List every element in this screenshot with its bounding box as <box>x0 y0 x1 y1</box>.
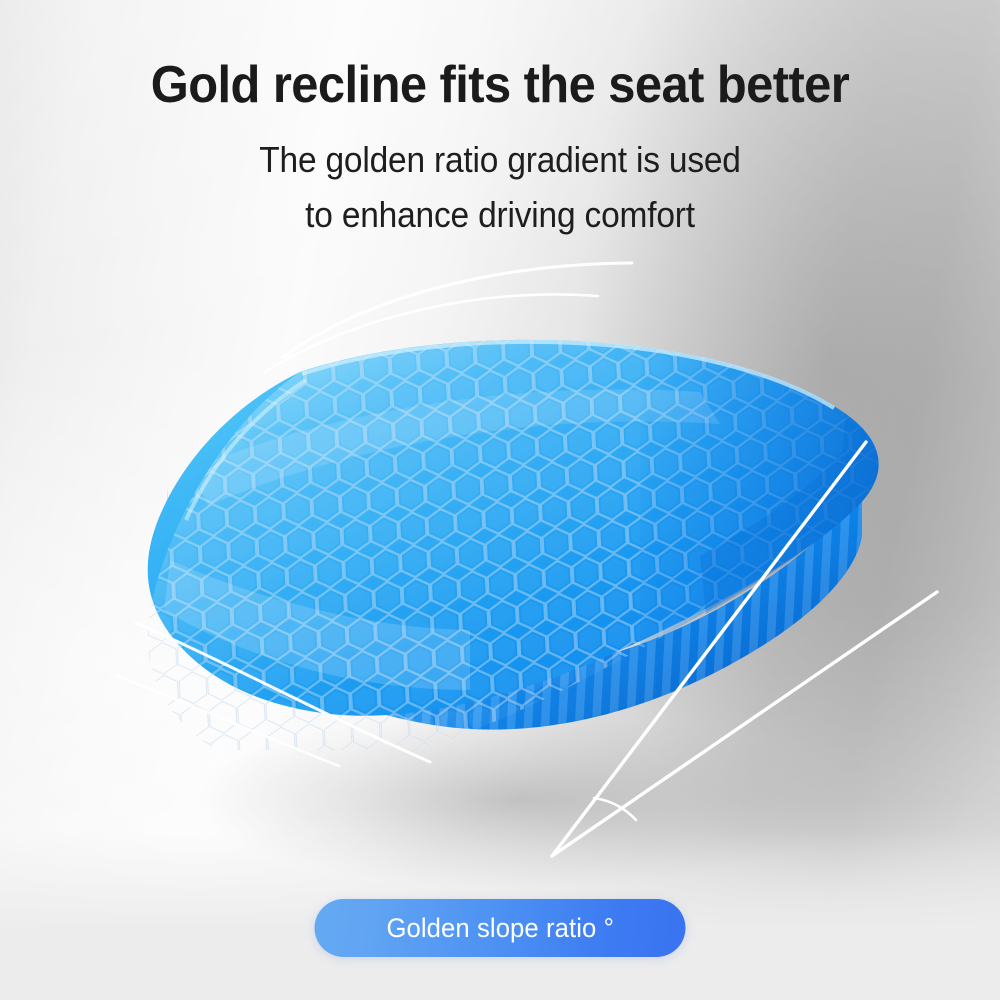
badge-label: Golden slope ratio ° <box>386 913 613 944</box>
header-text-block: Gold recline fits the seat better The go… <box>0 58 1000 243</box>
page-title: Gold recline fits the seat better <box>30 58 970 113</box>
subtitle-line-1: The golden ratio gradient is used <box>35 133 965 188</box>
golden-slope-ratio-badge[interactable]: Golden slope ratio ° <box>315 899 686 957</box>
banner-stage: Gold recline fits the seat better The go… <box>0 0 1000 1000</box>
subtitle-line-2: to enhance driving comfort <box>35 188 965 243</box>
